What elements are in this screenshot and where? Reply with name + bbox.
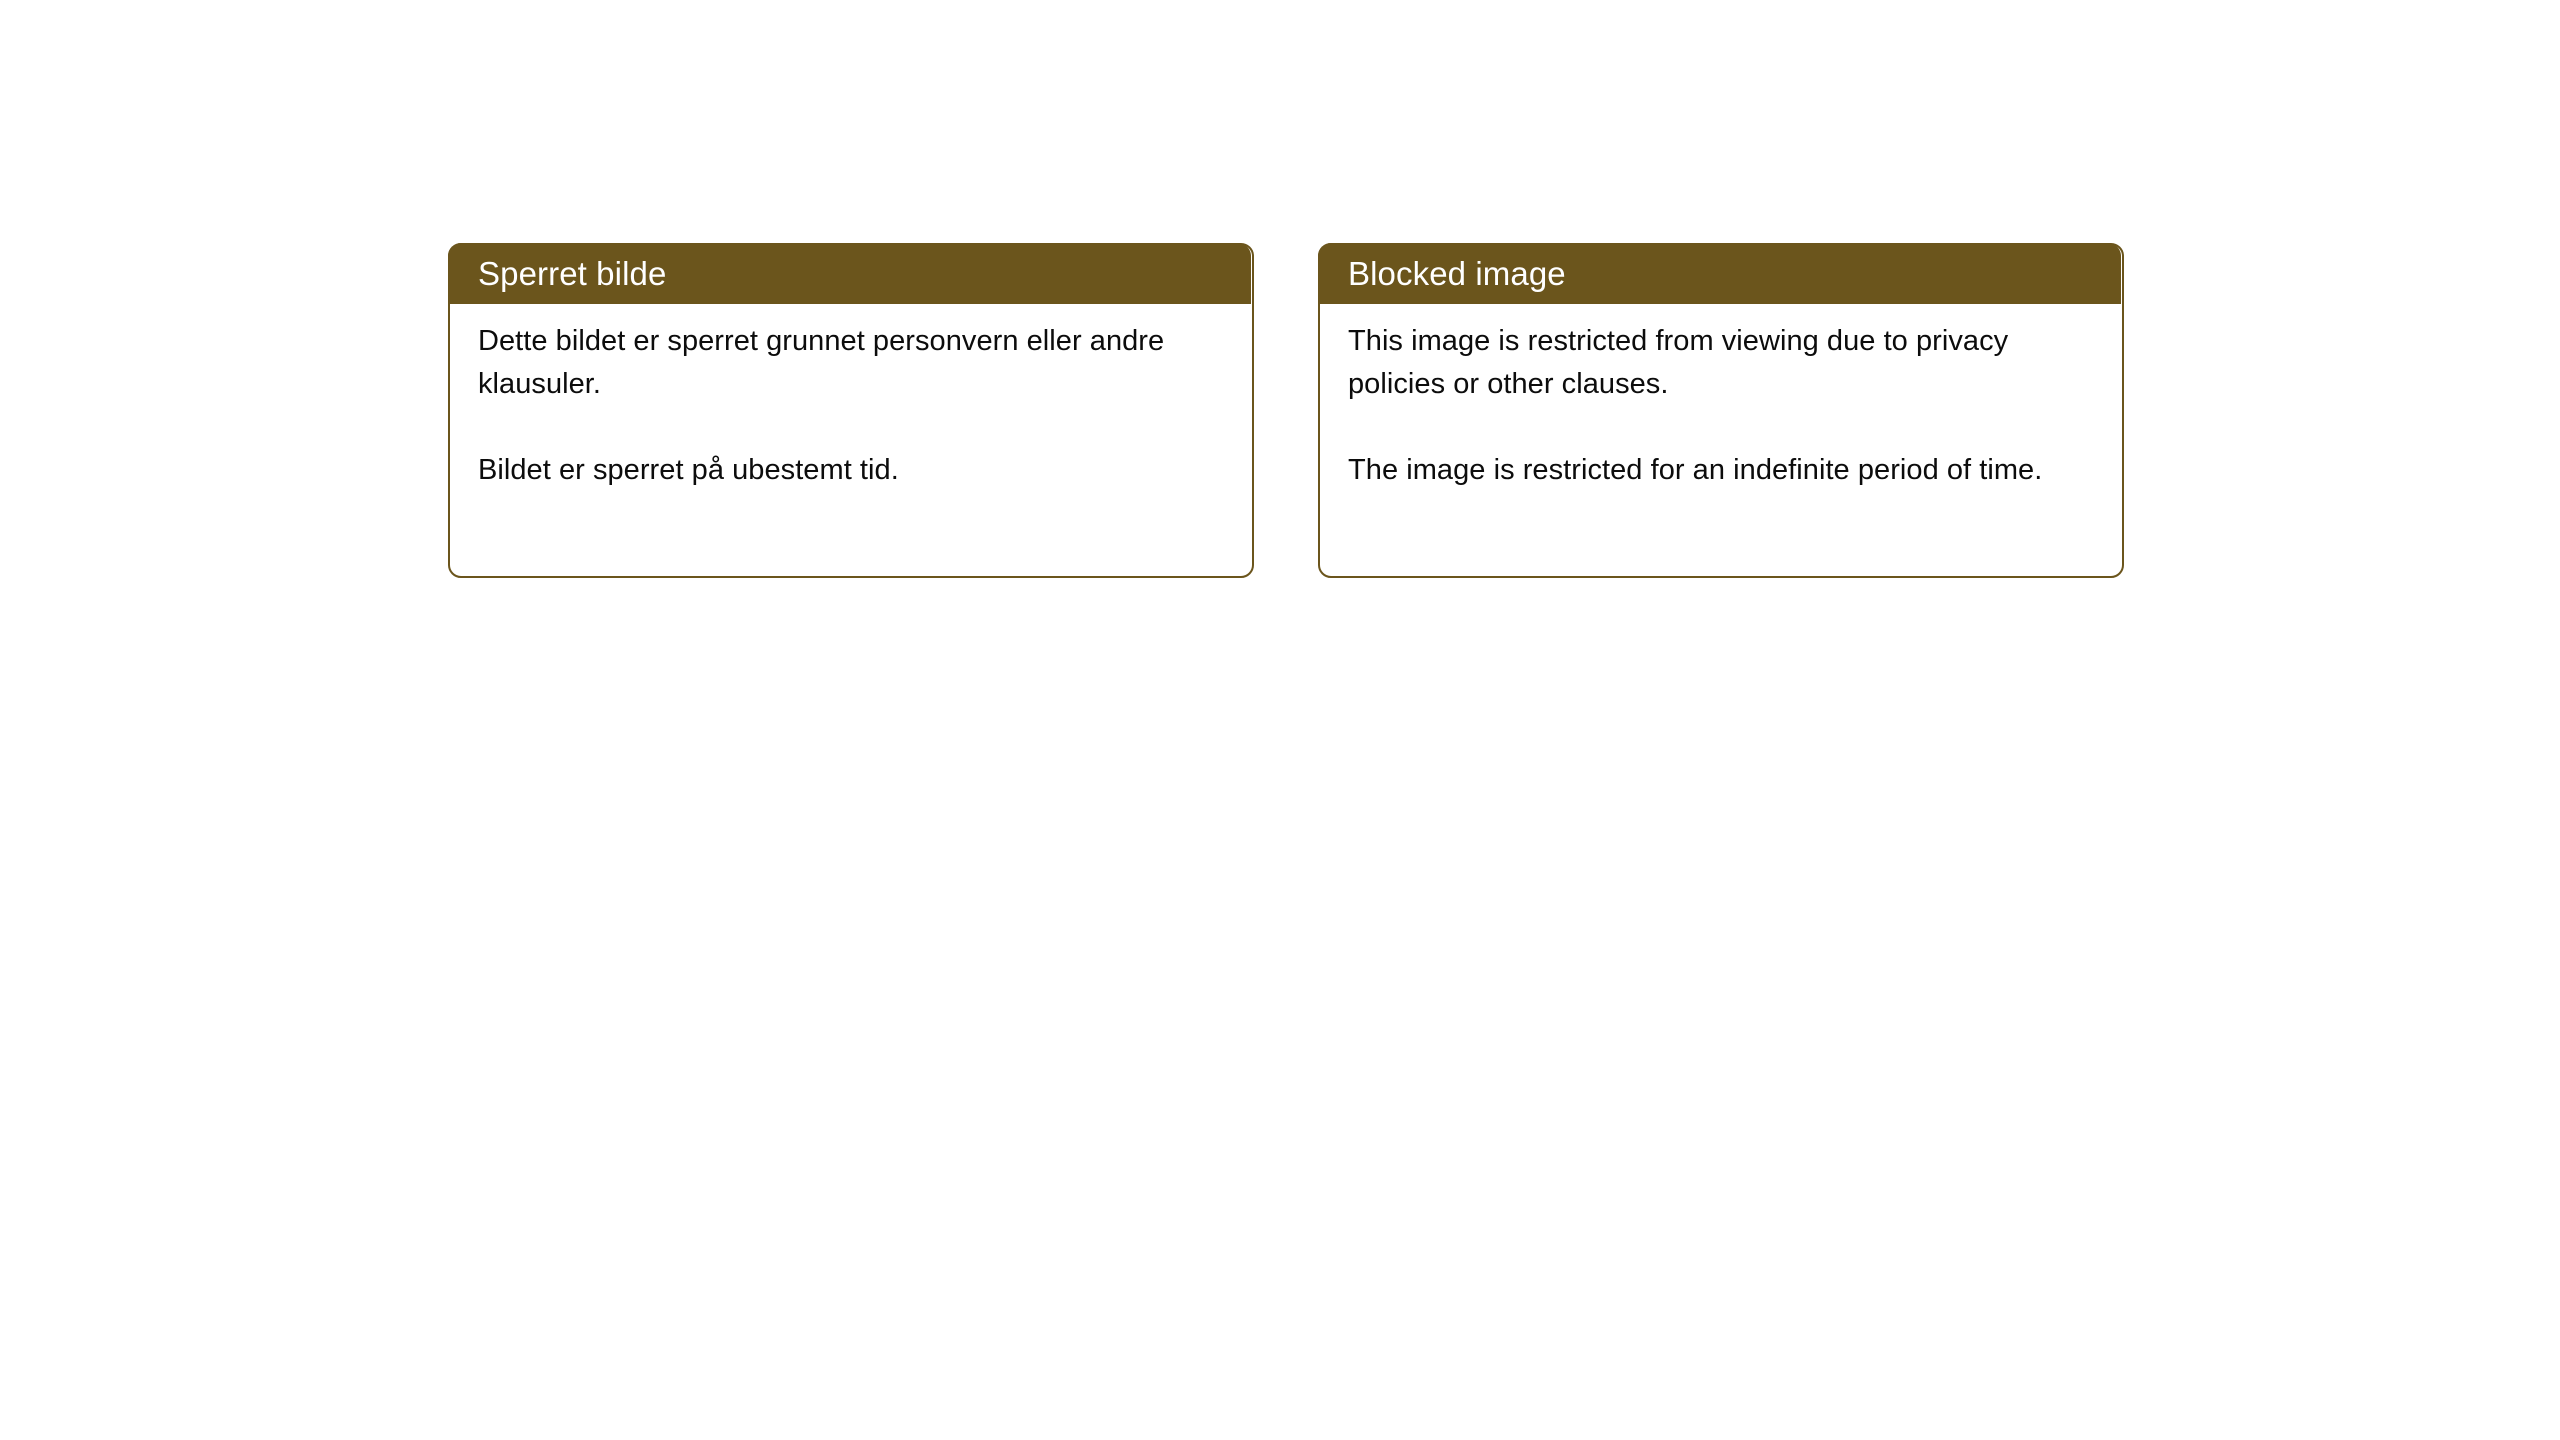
card-header-english: Blocked image bbox=[1318, 243, 2121, 304]
page-root: Sperret bilde Dette bildet er sperret gr… bbox=[0, 0, 2560, 1440]
card-content-norwegian: Dette bildet er sperret grunnet personve… bbox=[448, 304, 1254, 492]
card-paragraph-secondary-norwegian: Bildet er sperret på ubestemt tid. bbox=[478, 449, 1228, 492]
card-content-english: This image is restricted from viewing du… bbox=[1318, 304, 2124, 492]
blocked-image-notice-norwegian: Sperret bilde Dette bildet er sperret gr… bbox=[448, 243, 1254, 578]
card-paragraph-primary-norwegian: Dette bildet er sperret grunnet personve… bbox=[478, 320, 1228, 406]
card-paragraph-secondary-english: The image is restricted for an indefinit… bbox=[1348, 449, 2098, 492]
card-header-norwegian: Sperret bilde bbox=[448, 243, 1251, 304]
card-paragraph-primary-english: This image is restricted from viewing du… bbox=[1348, 320, 2098, 406]
blocked-image-notice-english: Blocked image This image is restricted f… bbox=[1318, 243, 2124, 578]
card-title-english: Blocked image bbox=[1348, 255, 1566, 291]
card-title-norwegian: Sperret bilde bbox=[478, 255, 666, 291]
